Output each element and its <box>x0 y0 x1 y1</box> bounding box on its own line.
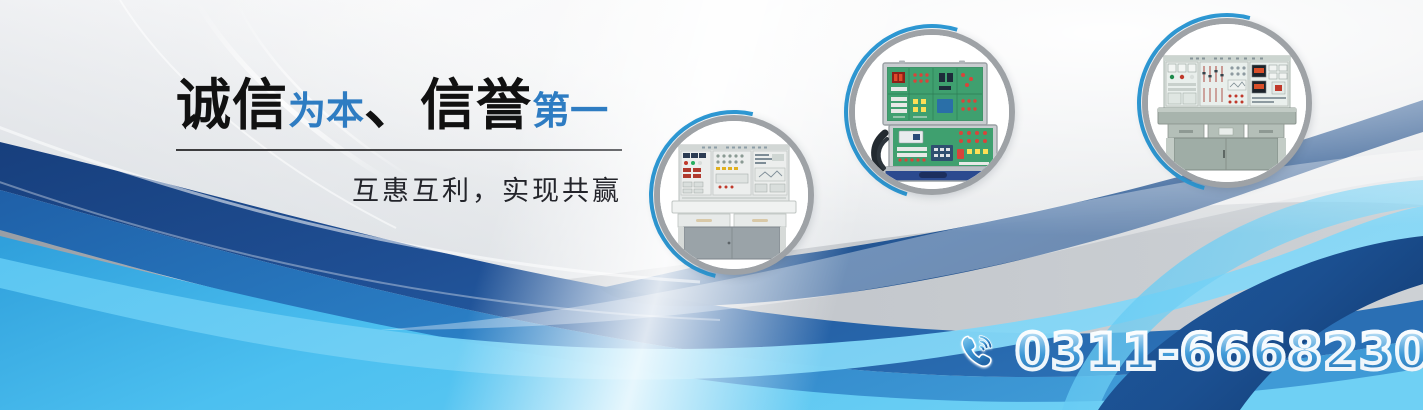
headline-divider <box>176 149 622 151</box>
headline-block: 诚信为本、信誉第一 互惠互利，实现共赢 <box>176 74 622 208</box>
page-title: 诚信为本、信誉第一 <box>176 74 622 142</box>
training-case-illustration <box>855 35 1009 189</box>
medallion-2[interactable] <box>849 29 1015 195</box>
medallion-3-photo <box>1148 24 1306 182</box>
headline-part-4: 信誉 <box>420 73 532 137</box>
contact-phone-line[interactable]: 0311-66682303 <box>955 327 1423 377</box>
medallion-2-photo <box>855 35 1009 189</box>
promo-banner: 诚信为本、信誉第一 互惠互利，实现共赢 <box>0 0 1423 410</box>
phone-number[interactable]: 0311-66682303 <box>1015 327 1423 377</box>
headline-part-2: 为本 <box>288 89 364 133</box>
medallion-3[interactable] <box>1142 18 1312 188</box>
medallion-1-photo <box>660 121 808 269</box>
medallion-1[interactable] <box>654 115 814 275</box>
headline-part-3: 、 <box>364 73 420 137</box>
workbench-illustration <box>660 121 808 269</box>
subtitle: 互惠互利，实现共赢 <box>176 169 622 208</box>
motor-bench-illustration <box>1148 24 1306 182</box>
headline-part-5: 第一 <box>532 89 608 133</box>
phone-call-icon <box>955 329 1001 375</box>
headline-part-1: 诚信 <box>176 73 288 137</box>
